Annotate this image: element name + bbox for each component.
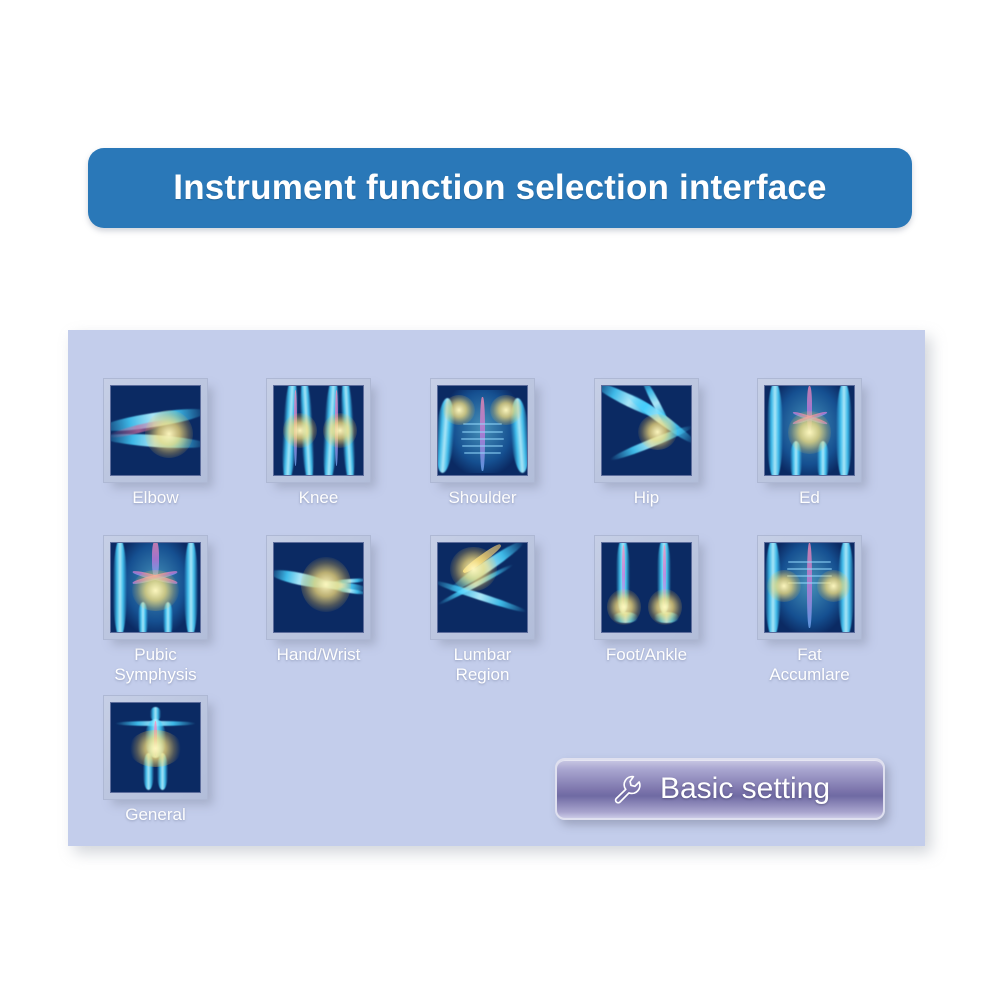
function-tile-foot-ankle[interactable]: Foot/Ankle	[594, 535, 699, 665]
page-title-banner: Instrument function selection interface	[88, 148, 912, 228]
lumbar-spine-xray-icon	[437, 542, 528, 633]
function-tile-label: Knee	[266, 488, 371, 508]
function-tile-fat-accumlare[interactable]: Fat Accumlare	[757, 535, 862, 685]
function-tile-label: Elbow	[103, 488, 208, 508]
tile-frame	[594, 378, 699, 483]
back-torso-xray-icon	[764, 542, 855, 633]
pelvis-xray-icon	[764, 385, 855, 476]
foot-ankle-xray-icon	[601, 542, 692, 633]
shoulder-xray-icon	[437, 385, 528, 476]
full-body-xray-icon	[110, 702, 201, 793]
function-tile-hip[interactable]: Hip	[594, 378, 699, 508]
tile-frame	[266, 535, 371, 640]
function-tile-pubic-symphysis[interactable]: Pubic Symphysis	[103, 535, 208, 685]
function-tile-label: Shoulder	[430, 488, 535, 508]
tile-frame	[594, 535, 699, 640]
function-tile-label: Hand/Wrist	[266, 645, 371, 665]
function-tile-general[interactable]: General	[103, 695, 208, 825]
function-tile-label: Lumbar Region	[430, 645, 535, 685]
tile-frame	[103, 695, 208, 800]
function-tile-label: Foot/Ankle	[594, 645, 699, 665]
basic-setting-button[interactable]: Basic setting	[555, 758, 885, 820]
function-tile-shoulder[interactable]: Shoulder	[430, 378, 535, 508]
function-tile-lumbar-region[interactable]: Lumbar Region	[430, 535, 535, 685]
function-tile-elbow[interactable]: Elbow	[103, 378, 208, 508]
hip-xray-icon	[601, 385, 692, 476]
tile-frame	[103, 378, 208, 483]
tile-frame	[430, 378, 535, 483]
function-tile-label: Pubic Symphysis	[103, 645, 208, 685]
function-tile-label: General	[103, 805, 208, 825]
function-tile-label: Hip	[594, 488, 699, 508]
tile-frame	[757, 535, 862, 640]
tile-frame	[430, 535, 535, 640]
wrench-icon	[610, 772, 644, 806]
page-title: Instrument function selection interface	[173, 168, 826, 208]
tile-frame	[757, 378, 862, 483]
function-selection-panel: Elbow Knee	[68, 330, 925, 846]
function-tile-ed[interactable]: Ed	[757, 378, 862, 508]
tile-frame	[266, 378, 371, 483]
basic-setting-label: Basic setting	[660, 772, 830, 806]
knee-xray-icon	[273, 385, 364, 476]
function-tile-label: Fat Accumlare	[757, 645, 862, 685]
tile-frame	[103, 535, 208, 640]
function-tile-hand-wrist[interactable]: Hand/Wrist	[266, 535, 371, 665]
function-tile-knee[interactable]: Knee	[266, 378, 371, 508]
function-tile-label: Ed	[757, 488, 862, 508]
pubic-symphysis-xray-icon	[110, 542, 201, 633]
hand-wrist-xray-icon	[273, 542, 364, 633]
elbow-xray-icon	[110, 385, 201, 476]
